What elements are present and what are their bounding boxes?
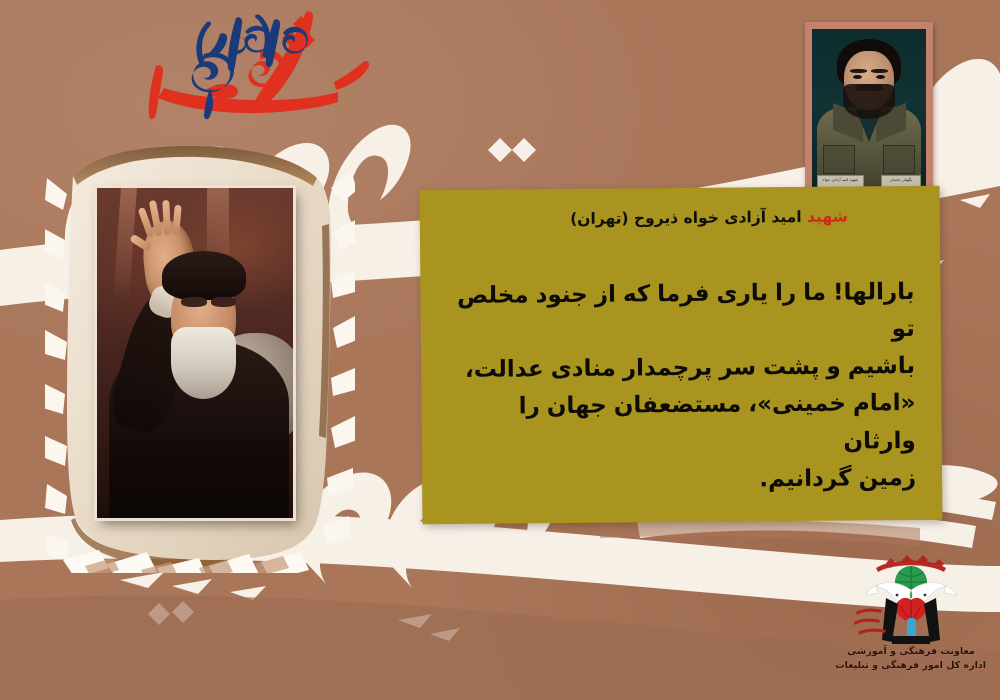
- org-line-1: معاونت فرهنگی و آموزشی: [836, 645, 986, 659]
- org-line-2: اداره کل امور فرهنگی و تبلیغات: [836, 659, 986, 673]
- organisation-name: معاونت فرهنگی و آموزشی اداره کل امور فره…: [836, 645, 986, 674]
- martyr-portrait-image: شهید امید آزادی خواه نگهبان پاسدار: [812, 29, 926, 195]
- poster-canvas: شهید امید آزادی خواه نگهبان پاسدار شهید …: [0, 0, 1000, 700]
- martyr-name-header: شهید امید آزادی خواه ذیروح (تهران): [446, 202, 914, 232]
- quote-body: بارالها! ما را یاری فرما که از جنود مخلص…: [446, 274, 916, 502]
- khomeini-portrait: [97, 188, 293, 518]
- title-calligraphy-svg: [110, 4, 410, 129]
- martyr-name: امید آزادی خواه ذیروح: [634, 208, 802, 227]
- quote-line: «امام خمینی»، مستضعفان جهان را وارثان: [453, 385, 916, 464]
- emblem-bottom-script: [854, 609, 886, 635]
- martyr-portrait-frame: شهید امید آزادی خواه نگهبان پاسدار: [805, 22, 933, 204]
- photo-caption-left-text: شهید امید آزادی خواه: [818, 176, 864, 183]
- stem-shape: [907, 618, 916, 638]
- organisation-emblem: [852, 552, 970, 644]
- poster-title-logo: [110, 4, 410, 129]
- shahid-label: شهید: [807, 208, 848, 226]
- photo-caption-right-text: نگهبان پاسدار: [882, 176, 921, 183]
- quote-card: شهید امید آزادی خواه ذیروح (تهران) بارال…: [420, 186, 943, 525]
- khomeini-photo-block: [45, 128, 355, 573]
- organisation-logo-block: معاونت فرهنگی و آموزشی اداره کل امور فره…: [836, 552, 986, 687]
- quote-line: زمین گردانیم.: [454, 460, 916, 501]
- quote-line: بارالها! ما را یاری فرما که از جنود مخلص…: [452, 274, 915, 353]
- martyr-city: (تهران): [570, 209, 629, 228]
- quote-line: باشیم و پشت سر پرچمدار منادی عدالت،: [453, 348, 915, 389]
